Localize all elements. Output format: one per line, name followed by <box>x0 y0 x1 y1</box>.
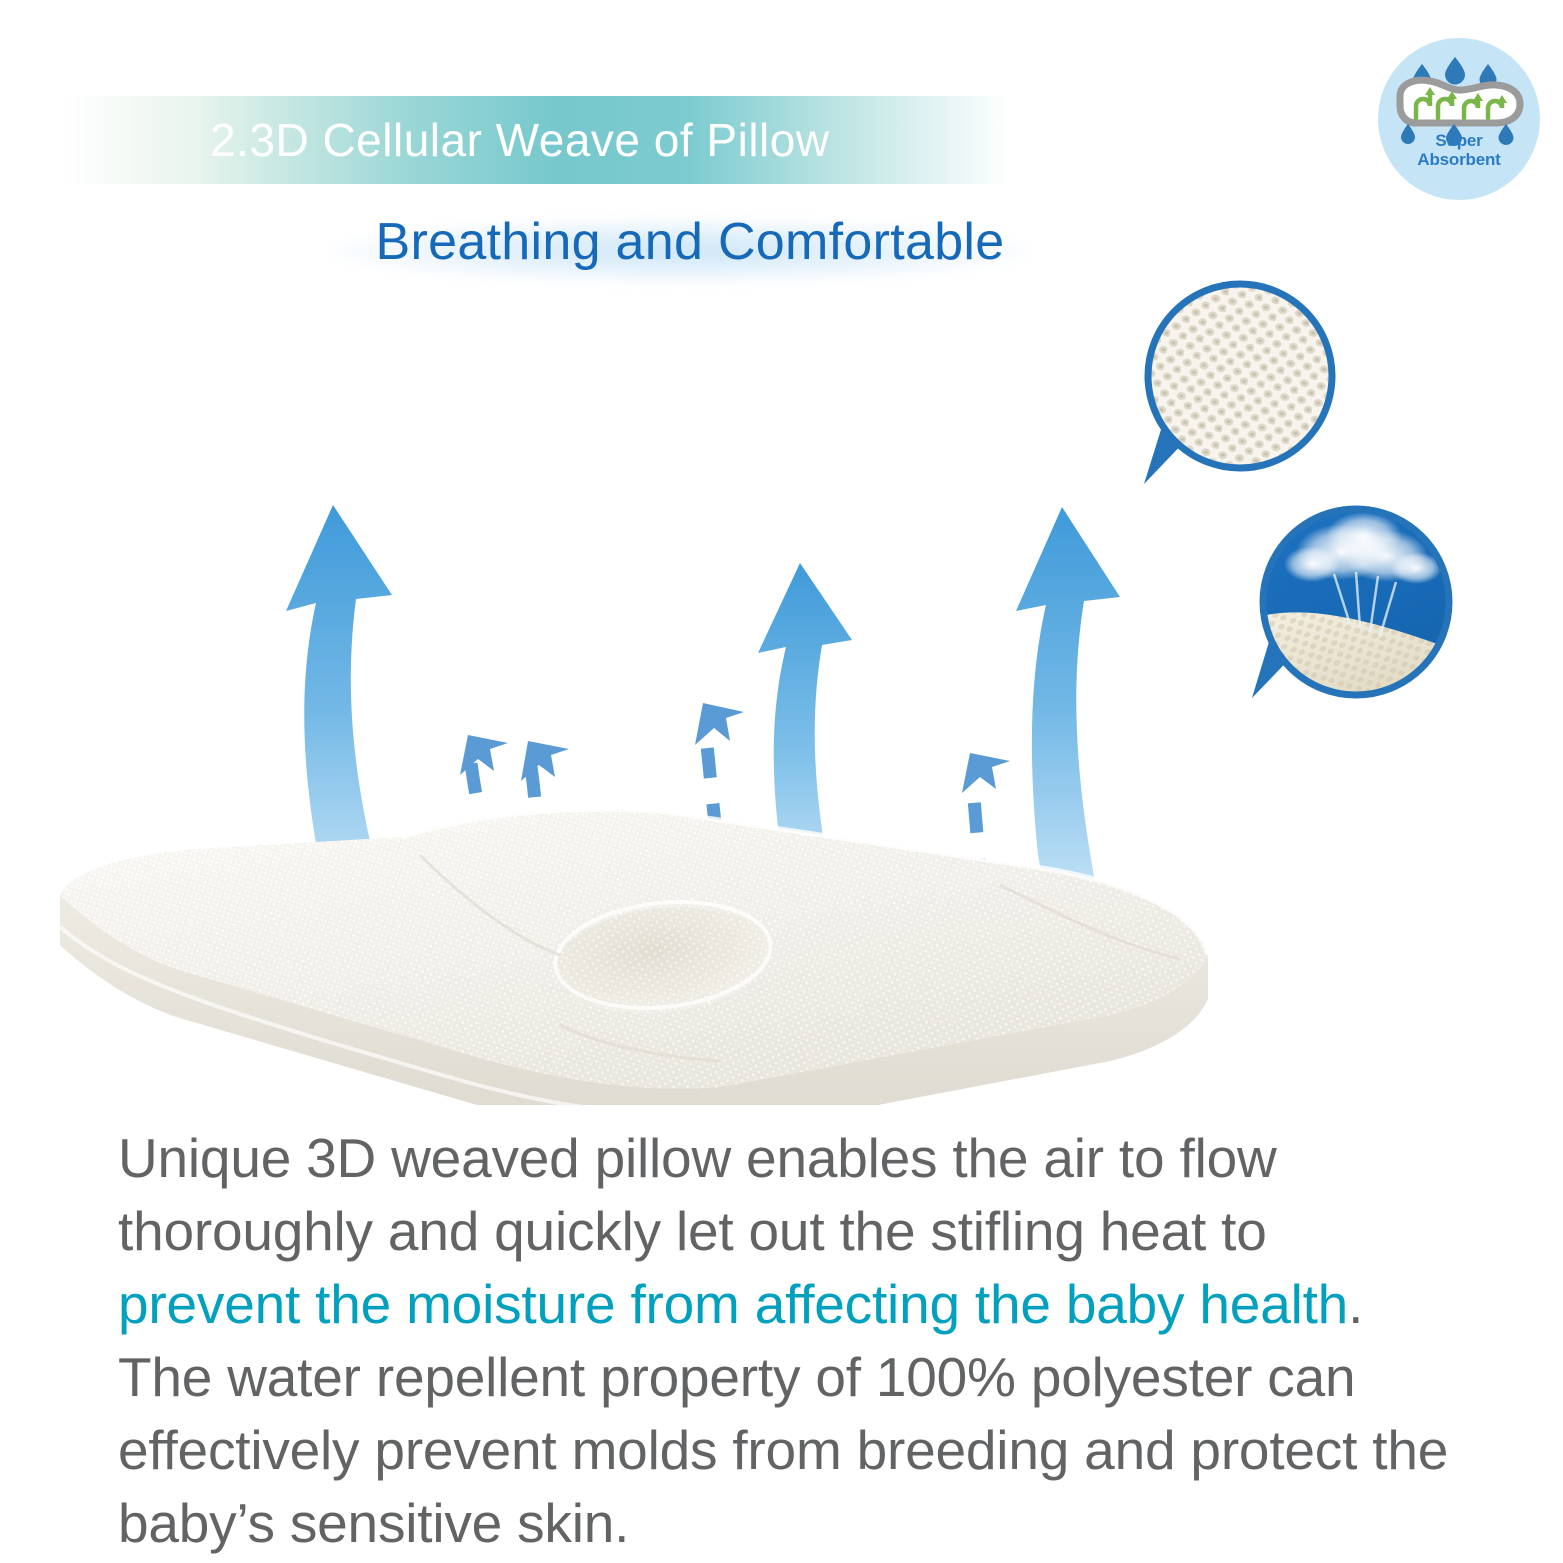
airflow-arrow-dashed-heads <box>460 703 1010 793</box>
badge-label: SuperAbsorbent <box>1378 131 1540 169</box>
badge-graphic <box>1378 38 1540 200</box>
page-title: 2.3D Cellular Weave of Pillow <box>210 105 1030 175</box>
badge-label-line2: Absorbent <box>1417 150 1500 169</box>
callout-mesh-weave-closeup <box>1128 278 1342 492</box>
infographic-page: 2.3D Cellular Weave of Pillow Breathing … <box>0 0 1563 1563</box>
body-segment-plain-1: Unique 3D weaved pillow enables the air … <box>118 1127 1277 1262</box>
badge-label-line1: Super <box>1435 131 1482 150</box>
pillow-graphic <box>60 809 1208 1105</box>
callout-moisture-evaporation-closeup <box>1238 498 1460 720</box>
body-segment-highlight: prevent the moisture from affecting the … <box>118 1273 1348 1335</box>
body-paragraph: Unique 3D weaved pillow enables the air … <box>118 1122 1463 1560</box>
super-absorbent-badge: SuperAbsorbent <box>1378 38 1540 200</box>
